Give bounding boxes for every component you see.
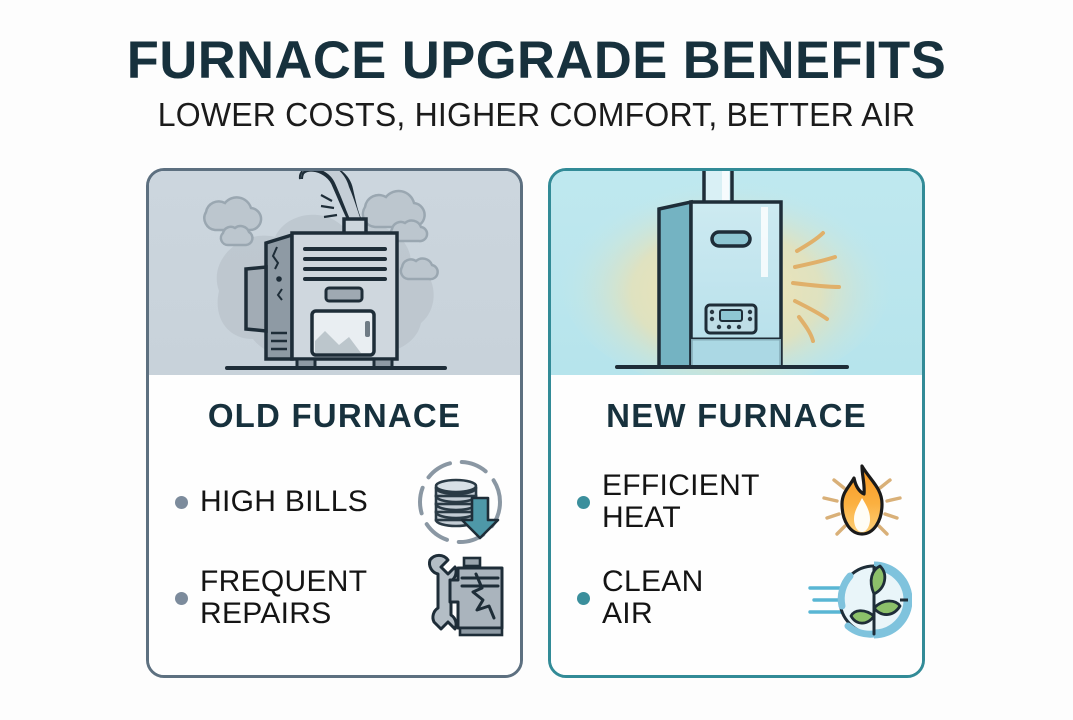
old-furnace-bullet-list: HIGH BILLS [149,454,520,646]
new-furnace-illustration [551,171,922,375]
card-old-furnace: OLD FURNACE HIGH BILLS [146,168,523,678]
card-new-furnace: NEW FURNACE EFFICIENT HEAT [548,168,925,678]
bullet-dot [577,496,590,509]
unit-side-panel [659,202,691,367]
list-item: EFFICIENT HEAT [551,454,922,550]
bullet-dot [175,496,188,509]
cracked-furnace-box [450,558,502,635]
unit-handle [712,232,750,246]
furnace-control-strip [326,288,362,301]
list-item: CLEAN AIR [551,550,922,646]
smoke-cloud-small [401,258,438,279]
bullet-dot [175,592,188,605]
page-subtitle: LOWER COSTS, HIGHER COMFORT, BETTER AIR [16,98,1057,131]
header: FURNACE UPGRADE BENEFITS LOWER COSTS, HI… [0,34,1073,131]
old-furnace-body: OLD FURNACE HIGH BILLS [149,375,520,675]
coins-down-arrow-icon [408,454,512,550]
bullet-dot [577,592,590,605]
new-furnace-bullet-list: EFFICIENT HEAT [551,454,922,646]
list-item: FREQUENT REPAIRS [149,550,520,646]
bullet-label: HIGH BILLS [200,486,408,518]
control-display [720,310,742,321]
furnace-side-vent [246,267,266,331]
pipe-leak-marks [321,195,337,217]
card-heading-new: NEW FURNACE [551,375,922,432]
new-furnace-body: NEW FURNACE EFFICIENT HEAT [551,375,922,675]
wrench-cracked-furnace-icon [408,550,512,646]
bullet-label: CLEAN AIR [602,566,810,631]
bullet-label: EFFICIENT HEAT [602,470,810,535]
bullet-label: FREQUENT REPAIRS [200,566,408,631]
unit-highlight [761,207,768,277]
old-furnace-illustration [149,171,520,375]
page-title: FURNACE UPGRADE BENEFITS [5,34,1067,87]
card-heading-old: OLD FURNACE [149,375,520,432]
infographic-canvas: FURNACE UPGRADE BENEFITS LOWER COSTS, HI… [0,0,1073,720]
smoke-cloud-left [204,197,261,245]
flame-icon [810,454,914,550]
leaf-airflow-icon [810,550,914,646]
list-item: HIGH BILLS [149,454,520,550]
